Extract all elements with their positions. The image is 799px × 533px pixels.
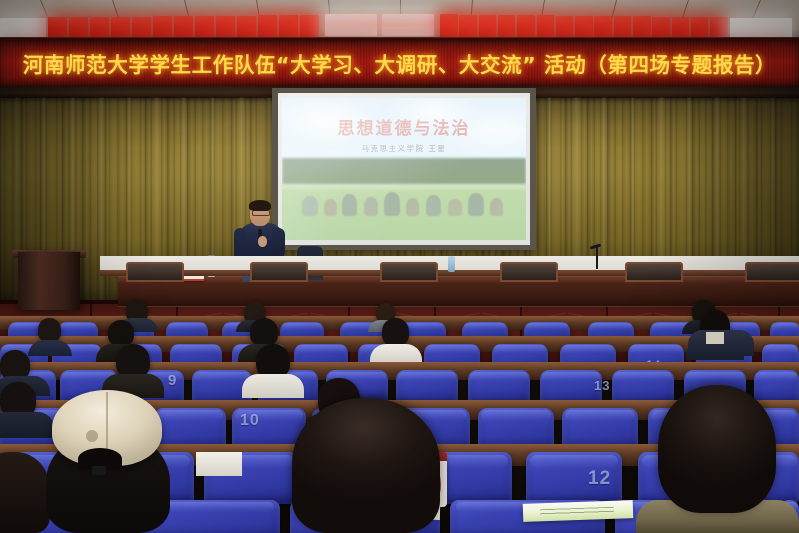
audience-member [38, 318, 61, 342]
seat-top-fold [565, 410, 635, 421]
seat-top-fold [590, 323, 632, 329]
front-row-chair [250, 262, 308, 282]
audience-shoulders [28, 340, 72, 356]
auditorium-seat[interactable] [468, 370, 530, 404]
seat-top-fold [630, 345, 682, 352]
front-row-chair [745, 262, 799, 282]
table-microphone-icon [596, 247, 598, 269]
seat-top-fold [494, 345, 546, 352]
seat-top-fold [194, 372, 249, 381]
seat-top-fold [763, 345, 797, 352]
seat-top-fold [562, 345, 614, 352]
front-row-chair [126, 262, 184, 282]
presentation-slide: 思想道德与法治 马克思主义学院 王星 [282, 98, 526, 240]
seat-top-fold [756, 372, 797, 381]
audience-member [116, 344, 150, 378]
front-row-chair [380, 262, 438, 282]
glasses-icon [252, 210, 270, 216]
cap-logo-icon [86, 430, 98, 442]
seat-top-fold [771, 323, 799, 329]
seat-number: 9 [168, 372, 177, 389]
auditorium-seat[interactable] [540, 370, 602, 404]
audience-shoulders [242, 374, 304, 398]
seat-top-fold [542, 372, 599, 381]
collar-shirt [706, 332, 724, 344]
banner-text: 河南师范大学学生工作队伍“大学习、大调研、大交流” 活动（第四场专题报告） [0, 38, 799, 88]
audience-member [108, 320, 134, 346]
seat-number: 13 [594, 378, 610, 393]
seat-top-fold [470, 372, 527, 381]
audience-member [256, 344, 290, 378]
cap-strap-buckle [92, 466, 106, 475]
event-banner: 河南师范大学学生工作队伍“大学习、大调研、大交流” 活动（第四场专题报告） [0, 38, 799, 88]
front-row-chair [500, 262, 558, 282]
seat-top-fold [172, 345, 220, 352]
seat-top-fold [157, 410, 223, 421]
podium [18, 252, 80, 310]
slide-brightness-wash [282, 98, 526, 240]
projection-screen: 思想道德与法治 马克思主义学院 王星 [278, 93, 530, 245]
seat-top-fold [282, 323, 322, 329]
white-shirt-back [196, 452, 242, 476]
banner-top-edge [0, 38, 799, 42]
front-desk-bottle [448, 256, 455, 272]
cap-seam [106, 392, 108, 452]
person-long-hair-center [292, 398, 440, 533]
seat-top-fold [686, 372, 743, 381]
audience-member [382, 318, 409, 346]
audience-shoulders [0, 412, 54, 438]
seat-top-fold [60, 323, 97, 329]
speaker-right-arm [272, 228, 285, 258]
seat-top-fold [530, 455, 618, 469]
auditorium-seat[interactable] [612, 370, 674, 404]
ceiling-red-glow [0, 10, 799, 40]
seat-number: 10 [240, 412, 260, 430]
front-row-chair [625, 262, 683, 282]
seat-top-fold [168, 323, 207, 329]
auditorium-seat[interactable] [754, 370, 799, 404]
lecture-hall-photo: 河南师范大学学生工作队伍“大学习、大调研、大交流” 活动（第四场专题报告） 思想… [0, 0, 799, 533]
seat-top-fold [464, 323, 506, 329]
person-right-front-head [658, 385, 776, 513]
seat-top-fold [526, 323, 568, 329]
seat-number: 12 [588, 468, 611, 490]
auditorium-seat[interactable] [396, 370, 458, 404]
audience-member [250, 318, 278, 346]
seat-top-fold [481, 410, 551, 421]
seat-top-fold [426, 345, 478, 352]
speaker-hand [258, 236, 267, 247]
seat-top-fold [398, 372, 455, 381]
audience-shoulders [370, 344, 422, 362]
seat-top-fold [296, 345, 346, 352]
seat-top-fold [614, 372, 671, 381]
